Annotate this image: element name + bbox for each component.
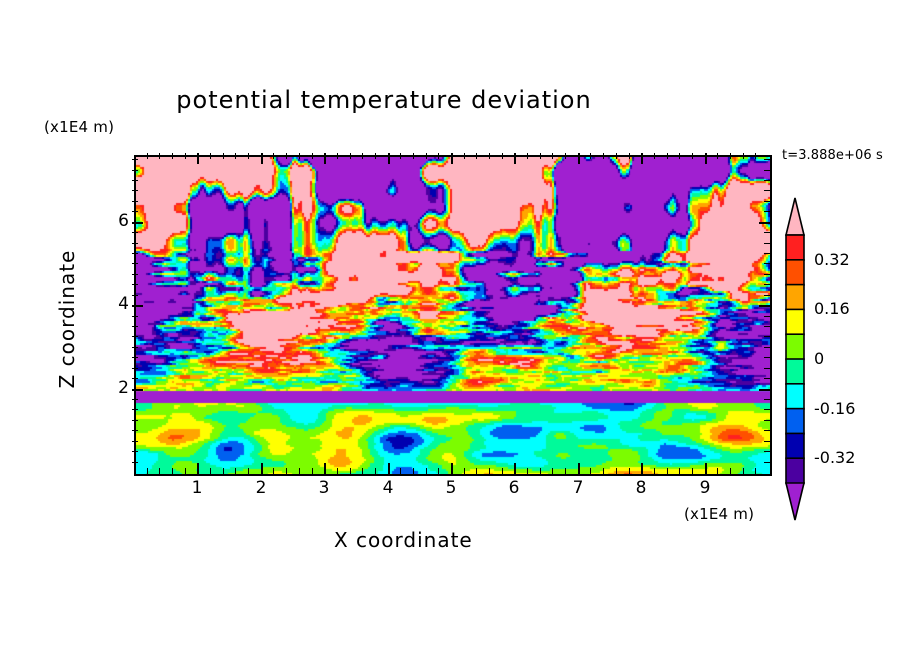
- z-tick-right-6.5: [764, 201, 770, 202]
- colorbar-label-4: -0.32: [814, 448, 855, 467]
- x-tick-top-8.4: [667, 153, 668, 159]
- x-tick-1.4000000000000001: [223, 468, 224, 474]
- x-tick-6: [514, 463, 516, 474]
- z-tick-right-6.25: [764, 211, 770, 212]
- x-tick-label-2: 2: [246, 478, 276, 498]
- colorbar-band-9: [786, 458, 804, 483]
- x-tick-label-5: 5: [436, 478, 466, 498]
- z-tick-6.75: [132, 190, 138, 191]
- x-tick-top-9.4: [730, 153, 731, 159]
- x-tick-label-8: 8: [626, 478, 656, 498]
- z-tick-5: [132, 263, 138, 264]
- z-tick-right-3.75: [764, 316, 770, 317]
- colorbar-band-8: [786, 433, 804, 458]
- z-tick-right-5.25: [764, 253, 770, 254]
- z-tick-6.5: [132, 201, 138, 202]
- x-tick-9.600000000000001: [743, 468, 744, 474]
- colorbar-over-cap: [786, 198, 804, 235]
- x-tick-top-2.2: [273, 153, 274, 159]
- z-tick-1: [132, 430, 138, 431]
- x-tick-3.2: [337, 468, 338, 474]
- z-tick-right-0.5: [764, 451, 770, 452]
- colorbar-band-5: [786, 359, 804, 384]
- x-tick-8.8: [692, 468, 693, 474]
- x-tick-top-6.2: [527, 153, 528, 159]
- z-tick-label-4: 4: [99, 294, 129, 314]
- z-tick-right-6: [759, 222, 770, 224]
- x-tick-4.800000000000001: [438, 468, 439, 474]
- z-tick-right-7: [764, 180, 770, 181]
- x-tick-0.8: [185, 468, 186, 474]
- x-tick-top-7: [578, 153, 580, 164]
- x-tick-0.4: [159, 468, 160, 474]
- z-tick-right-6.75: [764, 190, 770, 191]
- x-tick-6.6000000000000005: [552, 468, 553, 474]
- x-tick-top-1: [197, 153, 199, 164]
- z-tick-label-6: 6: [99, 211, 129, 231]
- z-tick-right-2.75: [764, 357, 770, 358]
- x-tick-label-1: 1: [182, 478, 212, 498]
- x-tick-3.4000000000000004: [350, 468, 351, 474]
- z-tick-5.75: [132, 232, 138, 233]
- x-tick-9.8: [755, 468, 756, 474]
- x-tick-top-4: [388, 153, 390, 164]
- x-tick-1.6: [235, 468, 236, 474]
- x-tick-top-5.800000000000001: [502, 153, 503, 159]
- z-tick-1.75: [132, 399, 138, 400]
- x-tick-top-2: [261, 153, 263, 164]
- z-tick-3.75: [132, 316, 138, 317]
- z-tick-right-3.25: [764, 336, 770, 337]
- z-tick-0.75: [132, 441, 138, 442]
- z-tick-right-4: [759, 305, 770, 307]
- x-tick-top-7.4: [603, 153, 604, 159]
- x-tick-top-3.8000000000000003: [375, 153, 376, 159]
- x-tick-9.200000000000001: [717, 468, 718, 474]
- x-axis-title: X coordinate: [334, 528, 473, 552]
- x-tick-6.4: [540, 468, 541, 474]
- page-title: potential temperature deviation: [0, 86, 768, 114]
- z-tick-right-3.5: [764, 326, 770, 327]
- x-tick-label-4: 4: [373, 478, 403, 498]
- x-tick-2.2: [273, 468, 274, 474]
- x-tick-9: [705, 463, 707, 474]
- x-tick-top-5.2: [464, 153, 465, 159]
- z-tick-right-4.5: [764, 284, 770, 285]
- z-tick-6.25: [132, 211, 138, 212]
- z-tick-right-1.75: [764, 399, 770, 400]
- x-tick-top-8: [641, 153, 643, 164]
- x-tick-top-5.6000000000000005: [489, 153, 490, 159]
- x-tick-3.6: [362, 468, 363, 474]
- z-tick-right-2.5: [764, 368, 770, 369]
- x-tick-top-8.200000000000001: [654, 153, 655, 159]
- x-tick-5.4: [476, 468, 477, 474]
- z-tick-right-5.75: [764, 232, 770, 233]
- z-tick-right-0.25: [764, 462, 770, 463]
- x-tick-top-3.4000000000000004: [350, 153, 351, 159]
- x-tick-top-9.200000000000001: [717, 153, 718, 159]
- x-axis-unit-label: (x1E4 m): [684, 505, 754, 523]
- z-tick-2.5: [132, 368, 138, 369]
- x-tick-8.6: [679, 468, 680, 474]
- z-tick-right-5: [764, 263, 770, 264]
- x-tick-2.8000000000000003: [312, 468, 313, 474]
- z-tick-3.5: [132, 326, 138, 327]
- x-tick-6.800000000000001: [565, 468, 566, 474]
- x-tick-top-9: [705, 153, 707, 164]
- x-tick-7.2: [590, 468, 591, 474]
- z-tick-5.25: [132, 253, 138, 254]
- x-tick-top-4.6000000000000005: [426, 153, 427, 159]
- x-tick-3: [324, 463, 326, 474]
- z-tick-3: [132, 347, 138, 348]
- x-tick-label-9: 9: [690, 478, 720, 498]
- x-tick-1.8: [248, 468, 249, 474]
- x-tick-top-9.600000000000001: [743, 153, 744, 159]
- x-tick-5.800000000000001: [502, 468, 503, 474]
- x-tick-top-8.8: [692, 153, 693, 159]
- contour-field-canvas: [136, 157, 770, 474]
- x-tick-9.4: [730, 468, 731, 474]
- colorbar-label-2: 0: [814, 349, 824, 368]
- x-tick-top-0.2: [147, 153, 148, 159]
- x-tick-4.6000000000000005: [426, 468, 427, 474]
- x-tick-top-1.4000000000000001: [223, 153, 224, 159]
- colorbar-label-0: 0.32: [814, 250, 850, 269]
- colorbar-band-3: [786, 309, 804, 334]
- colorbar-band-6: [786, 384, 804, 409]
- x-tick-top-4.800000000000001: [438, 153, 439, 159]
- x-tick-top-6.6000000000000005: [552, 153, 553, 159]
- z-tick-right-4.75: [764, 274, 770, 275]
- contour-plot-area: [134, 155, 772, 476]
- z-tick-7.25: [132, 170, 138, 171]
- x-tick-8.4: [667, 468, 668, 474]
- y-axis-title: Z coordinate: [55, 229, 79, 409]
- z-tick-0.25: [132, 462, 138, 463]
- x-tick-top-7.6000000000000005: [616, 153, 617, 159]
- colorbar-svg: [782, 197, 808, 521]
- x-tick-top-6: [514, 153, 516, 164]
- x-tick-top-6.800000000000001: [565, 153, 566, 159]
- x-tick-top-0.6000000000000001: [172, 153, 173, 159]
- x-tick-8: [641, 463, 643, 474]
- z-tick-right-5.5: [764, 243, 770, 244]
- x-tick-7.4: [603, 468, 604, 474]
- x-tick-4.4: [413, 468, 414, 474]
- z-tick-right-0.75: [764, 441, 770, 442]
- z-tick-label-2: 2: [99, 378, 129, 398]
- x-tick-3.8000000000000003: [375, 468, 376, 474]
- x-tick-top-3.6: [362, 153, 363, 159]
- x-tick-4: [388, 463, 390, 474]
- x-tick-4.2: [400, 468, 401, 474]
- colorbar-label-3: -0.16: [814, 399, 855, 418]
- x-tick-1: [197, 463, 199, 474]
- z-tick-4.5: [132, 284, 138, 285]
- x-tick-5: [451, 463, 453, 474]
- z-tick-right-1.5: [764, 409, 770, 410]
- z-tick-2.75: [132, 357, 138, 358]
- x-tick-7.6000000000000005: [616, 468, 617, 474]
- x-tick-top-4.4: [413, 153, 414, 159]
- z-tick-3.25: [132, 336, 138, 337]
- x-tick-label-3: 3: [309, 478, 339, 498]
- z-axis-unit-label: (x1E4 m): [44, 118, 114, 136]
- z-tick-right-2.25: [764, 378, 770, 379]
- z-tick-right-4.25: [764, 295, 770, 296]
- z-tick-7: [132, 180, 138, 181]
- z-tick-right-2: [759, 389, 770, 391]
- colorbar-band-1: [786, 260, 804, 285]
- z-tick-2.25: [132, 378, 138, 379]
- x-tick-5.2: [464, 468, 465, 474]
- colorbar-label-1: 0.16: [814, 299, 850, 318]
- z-tick-4: [132, 305, 143, 307]
- x-tick-2.4000000000000004: [286, 468, 287, 474]
- colorbar-band-7: [786, 409, 804, 434]
- x-tick-0.2: [147, 468, 148, 474]
- z-tick-7.5: [132, 159, 138, 160]
- x-tick-8.200000000000001: [654, 468, 655, 474]
- z-tick-right-7.5: [764, 159, 770, 160]
- x-tick-top-0.4: [159, 153, 160, 159]
- x-tick-top-5.4: [476, 153, 477, 159]
- x-tick-top-3: [324, 153, 326, 164]
- colorbar-band-0: [786, 235, 804, 260]
- colorbar-under-cap: [786, 483, 804, 520]
- z-tick-6: [132, 222, 143, 224]
- z-tick-1.5: [132, 409, 138, 410]
- x-tick-7.800000000000001: [629, 468, 630, 474]
- z-tick-1.25: [132, 420, 138, 421]
- x-tick-top-1.2000000000000002: [210, 153, 211, 159]
- x-tick-label-7: 7: [563, 478, 593, 498]
- x-tick-top-8.6: [679, 153, 680, 159]
- x-tick-2: [261, 463, 263, 474]
- z-tick-right-7.25: [764, 170, 770, 171]
- x-tick-top-6.4: [540, 153, 541, 159]
- z-tick-2: [132, 389, 143, 391]
- x-tick-top-9.8: [755, 153, 756, 159]
- x-tick-top-7.800000000000001: [629, 153, 630, 159]
- x-tick-0.6000000000000001: [172, 468, 173, 474]
- z-tick-4.25: [132, 295, 138, 296]
- x-tick-7: [578, 463, 580, 474]
- x-tick-top-2.8000000000000003: [312, 153, 313, 159]
- x-tick-2.6: [299, 468, 300, 474]
- colorbar[interactable]: [782, 197, 808, 521]
- x-tick-1.2000000000000002: [210, 468, 211, 474]
- x-tick-top-1.8: [248, 153, 249, 159]
- z-tick-4.75: [132, 274, 138, 275]
- x-tick-top-2.6: [299, 153, 300, 159]
- z-tick-right-1: [764, 430, 770, 431]
- z-tick-0.5: [132, 451, 138, 452]
- x-tick-top-4.2: [400, 153, 401, 159]
- z-tick-right-1.25: [764, 420, 770, 421]
- time-annotation: t=3.888e+06 s: [782, 148, 883, 163]
- x-tick-label-6: 6: [499, 478, 529, 498]
- x-tick-top-3.2: [337, 153, 338, 159]
- x-tick-top-1.6: [235, 153, 236, 159]
- x-tick-5.6000000000000005: [489, 468, 490, 474]
- z-tick-5.5: [132, 243, 138, 244]
- colorbar-band-4: [786, 334, 804, 359]
- colorbar-band-2: [786, 285, 804, 310]
- x-tick-6.2: [527, 468, 528, 474]
- z-tick-right-3: [764, 347, 770, 348]
- x-tick-top-0.8: [185, 153, 186, 159]
- x-tick-top-7.2: [590, 153, 591, 159]
- x-tick-top-2.4000000000000004: [286, 153, 287, 159]
- x-tick-top-5: [451, 153, 453, 164]
